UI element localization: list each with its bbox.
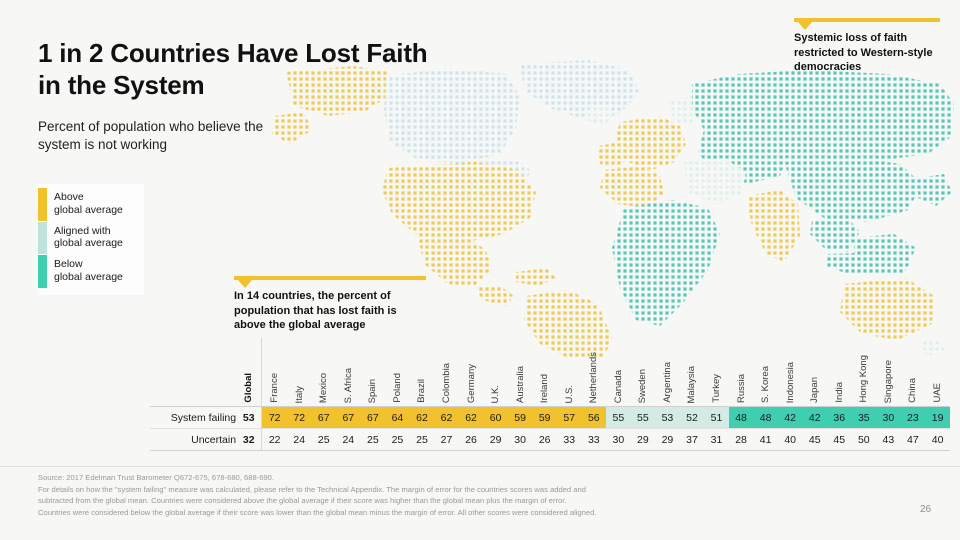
cell-uncertain-ireland: 26 — [532, 429, 557, 451]
cell-system-failing-japan: 42 — [802, 407, 827, 429]
footer-divider — [0, 466, 960, 467]
cell-uncertain-france: 22 — [262, 429, 287, 451]
legend-label-above-line2: global average — [54, 204, 123, 216]
legend-swatch-above — [38, 188, 47, 221]
cell-uncertain-canada: 30 — [606, 429, 631, 451]
legend-label-aligned-line1: Aligned with — [54, 225, 111, 237]
cell-uncertain-singapore: 43 — [876, 429, 901, 451]
page-subtitle: Percent of population who believe the sy… — [38, 118, 308, 154]
cell-uncertain-hong-kong: 50 — [852, 429, 877, 451]
header-country-label: Sweden — [637, 369, 648, 403]
cell-uncertain-spain: 25 — [361, 429, 386, 451]
header-country-china: China — [901, 338, 926, 407]
table-row: System failing53727267676764626262605959… — [150, 407, 950, 429]
cell-system-failing-u-s: 57 — [557, 407, 582, 429]
data-table-area: Global FranceItalyMexicoS. AfricaSpainPo… — [150, 338, 950, 451]
cell-uncertain-italy: 24 — [287, 429, 312, 451]
header-country-italy: Italy — [287, 338, 312, 407]
header-corner-blank — [150, 338, 236, 407]
cell-system-failing-malaysia: 52 — [680, 407, 705, 429]
cell-system-failing-mexico: 67 — [312, 407, 337, 429]
footnote-line-3: subtracted from the global mean. Countri… — [38, 495, 738, 507]
cell-uncertain-argentina: 29 — [655, 429, 680, 451]
cell-system-failing-ireland: 59 — [532, 407, 557, 429]
legend-swatch-below — [38, 255, 47, 288]
callout-right-text: Systemic loss of faith restricted to Wes… — [794, 31, 940, 75]
cell-uncertain-indonesia: 40 — [778, 429, 803, 451]
table-header-row: Global FranceItalyMexicoS. AfricaSpainPo… — [150, 338, 950, 407]
header-country-japan: Japan — [802, 338, 827, 407]
header-country-label: India — [834, 382, 845, 403]
header-country-colombia: Colombia — [434, 338, 459, 407]
header-country-label: S. Korea — [760, 366, 771, 403]
callout-annotation-left: In 14 countries, the percent of populati… — [234, 276, 426, 333]
cell-uncertain-netherlands: 33 — [582, 429, 607, 451]
callout-left-text: In 14 countries, the percent of populati… — [234, 289, 426, 333]
header-country-indonesia: Indonesia — [778, 338, 803, 407]
header-country-australia: Australia — [508, 338, 533, 407]
cell-uncertain-russia: 28 — [729, 429, 754, 451]
cell-system-failing-poland: 64 — [385, 407, 410, 429]
header-country-label: Malaysia — [686, 366, 697, 404]
header-country-hong-kong: Hong Kong — [852, 338, 877, 407]
cell-uncertain-uae: 40 — [925, 429, 950, 451]
cell-system-failing-argentina: 53 — [655, 407, 680, 429]
cell-system-failing-u-k: 60 — [483, 407, 508, 429]
header-country-label: Japan — [809, 377, 820, 403]
header-country-india: India — [827, 338, 852, 407]
page-title: 1 in 2 Countries Have Lost Faith in the … — [38, 38, 438, 101]
cell-system-failing-hong-kong: 35 — [852, 407, 877, 429]
header-country-label: S. Africa — [343, 368, 354, 403]
header-country-mexico: Mexico — [312, 338, 337, 407]
header-country-uae: UAE — [925, 338, 950, 407]
cell-uncertain-poland: 25 — [385, 429, 410, 451]
header-country-singapore: Singapore — [876, 338, 901, 407]
cell-system-failing-spain: 67 — [361, 407, 386, 429]
footnote-line-2: For details on how the "system failing" … — [38, 484, 738, 496]
header-country-spain: Spain — [361, 338, 386, 407]
cell-uncertain-china: 47 — [901, 429, 926, 451]
header-country-argentina: Argentina — [655, 338, 680, 407]
header-country-sweden: Sweden — [631, 338, 656, 407]
header-country-germany: Germany — [459, 338, 484, 407]
callout-annotation-right: Systemic loss of faith restricted to Wes… — [794, 18, 940, 75]
header-country-brazil: Brazil — [410, 338, 435, 407]
cell-uncertain-colombia: 27 — [434, 429, 459, 451]
header-country-label: Australia — [515, 366, 526, 403]
cell-system-failing-australia: 59 — [508, 407, 533, 429]
cell-system-failing-sweden: 55 — [631, 407, 656, 429]
header-country-label: U.S. — [564, 385, 575, 403]
cell-uncertain-india: 45 — [827, 429, 852, 451]
cell-system-failing-turkey: 51 — [704, 407, 729, 429]
header-country-label: Spain — [367, 379, 378, 403]
header-country-label: Russia — [736, 374, 747, 403]
callout-pointer-icon — [234, 276, 426, 280]
header-country-label: France — [269, 373, 280, 403]
header-country-s-korea: S. Korea — [753, 338, 778, 407]
header-country-label: Mexico — [318, 373, 329, 403]
header-country-label: Germany — [466, 364, 477, 403]
header-country-malaysia: Malaysia — [680, 338, 705, 407]
footnote-line-4: Countries were considered below the glob… — [38, 507, 738, 519]
header-country-label: Indonesia — [785, 362, 796, 403]
cell-uncertain-s-africa: 24 — [336, 429, 361, 451]
header-country-label: Turkey — [711, 374, 722, 403]
callout-pointer-icon — [794, 18, 940, 22]
cell-system-failing-italy: 72 — [287, 407, 312, 429]
cell-system-failing-germany: 62 — [459, 407, 484, 429]
header-country-label: Poland — [392, 373, 403, 403]
header-country-label: UAE — [932, 383, 943, 403]
cell-uncertain-malaysia: 37 — [680, 429, 705, 451]
cell-system-failing-russia: 48 — [729, 407, 754, 429]
cell-system-failing-india: 36 — [827, 407, 852, 429]
legend-label-below-line1: Below — [54, 258, 83, 270]
header-country-label: Argentina — [662, 362, 673, 403]
cell-system-failing-france: 72 — [262, 407, 287, 429]
header-country-s-africa: S. Africa — [336, 338, 361, 407]
header-country-russia: Russia — [729, 338, 754, 407]
cell-uncertain-u-k: 29 — [483, 429, 508, 451]
header-country-label: Ireland — [539, 374, 550, 403]
row-label-uncertain: Uncertain — [150, 429, 236, 451]
table-row: Uncertain3222242524252525272629302633333… — [150, 429, 950, 451]
header-country-label: Singapore — [883, 360, 894, 403]
header-country-u-k: U.K. — [483, 338, 508, 407]
map-legend: Above global average Aligned with global… — [38, 184, 144, 295]
cell-uncertain-turkey: 31 — [704, 429, 729, 451]
cell-uncertain-australia: 30 — [508, 429, 533, 451]
header-country-poland: Poland — [385, 338, 410, 407]
cell-system-failing-singapore: 30 — [876, 407, 901, 429]
header-country-ireland: Ireland — [532, 338, 557, 407]
global-value-system-failing: 53 — [236, 407, 262, 429]
slide-canvas: 1 in 2 Countries Have Lost Faith in the … — [0, 0, 960, 540]
header-country-label: Colombia — [441, 363, 452, 403]
cell-uncertain-mexico: 25 — [312, 429, 337, 451]
cell-uncertain-u-s: 33 — [557, 429, 582, 451]
page-number: 26 — [920, 504, 931, 515]
source-footnote: Source: 2017 Edelman Trust Barometer Q67… — [38, 472, 738, 518]
header-country-label: China — [907, 378, 918, 403]
cell-uncertain-brazil: 25 — [410, 429, 435, 451]
cell-uncertain-s-korea: 41 — [753, 429, 778, 451]
header-global: Global — [236, 338, 262, 407]
header-country-netherlands: Netherlands — [582, 338, 607, 407]
legend-swatch-aligned — [38, 222, 47, 255]
header-country-label: Brazil — [416, 379, 427, 403]
header-country-label: Canada — [613, 370, 624, 403]
cell-system-failing-indonesia: 42 — [778, 407, 803, 429]
legend-label-aligned: Aligned with global average — [54, 222, 123, 255]
global-value-uncertain: 32 — [236, 429, 262, 451]
header-country-canada: Canada — [606, 338, 631, 407]
header-country-label: Hong Kong — [858, 355, 869, 403]
cell-system-failing-uae: 19 — [925, 407, 950, 429]
header-country-label: Netherlands — [588, 352, 599, 403]
header-country-u-s: U.S. — [557, 338, 582, 407]
legend-label-above: Above global average — [54, 188, 123, 221]
legend-label-above-line1: Above — [54, 191, 84, 203]
legend-label-below: Below global average — [54, 255, 123, 288]
cell-system-failing-colombia: 62 — [434, 407, 459, 429]
header-country-label: U.K. — [490, 385, 501, 403]
header-country-label: Italy — [294, 386, 305, 403]
cell-uncertain-germany: 26 — [459, 429, 484, 451]
legend-label-aligned-line2: global average — [54, 237, 123, 249]
legend-item-aligned: Aligned with global average — [38, 222, 138, 255]
legend-item-below: Below global average — [38, 255, 138, 288]
cell-system-failing-brazil: 62 — [410, 407, 435, 429]
country-data-table: Global FranceItalyMexicoS. AfricaSpainPo… — [150, 338, 950, 451]
footnote-line-1: Source: 2017 Edelman Trust Barometer Q67… — [38, 472, 738, 484]
header-country-france: France — [262, 338, 287, 407]
cell-system-failing-canada: 55 — [606, 407, 631, 429]
cell-system-failing-china: 23 — [901, 407, 926, 429]
cell-system-failing-s-africa: 67 — [336, 407, 361, 429]
header-country-turkey: Turkey — [704, 338, 729, 407]
legend-label-below-line2: global average — [54, 271, 123, 283]
cell-uncertain-sweden: 29 — [631, 429, 656, 451]
legend-item-above: Above global average — [38, 188, 138, 221]
cell-uncertain-japan: 45 — [802, 429, 827, 451]
cell-system-failing-netherlands: 56 — [582, 407, 607, 429]
cell-system-failing-s-korea: 48 — [753, 407, 778, 429]
row-label-system-failing: System failing — [150, 407, 236, 429]
